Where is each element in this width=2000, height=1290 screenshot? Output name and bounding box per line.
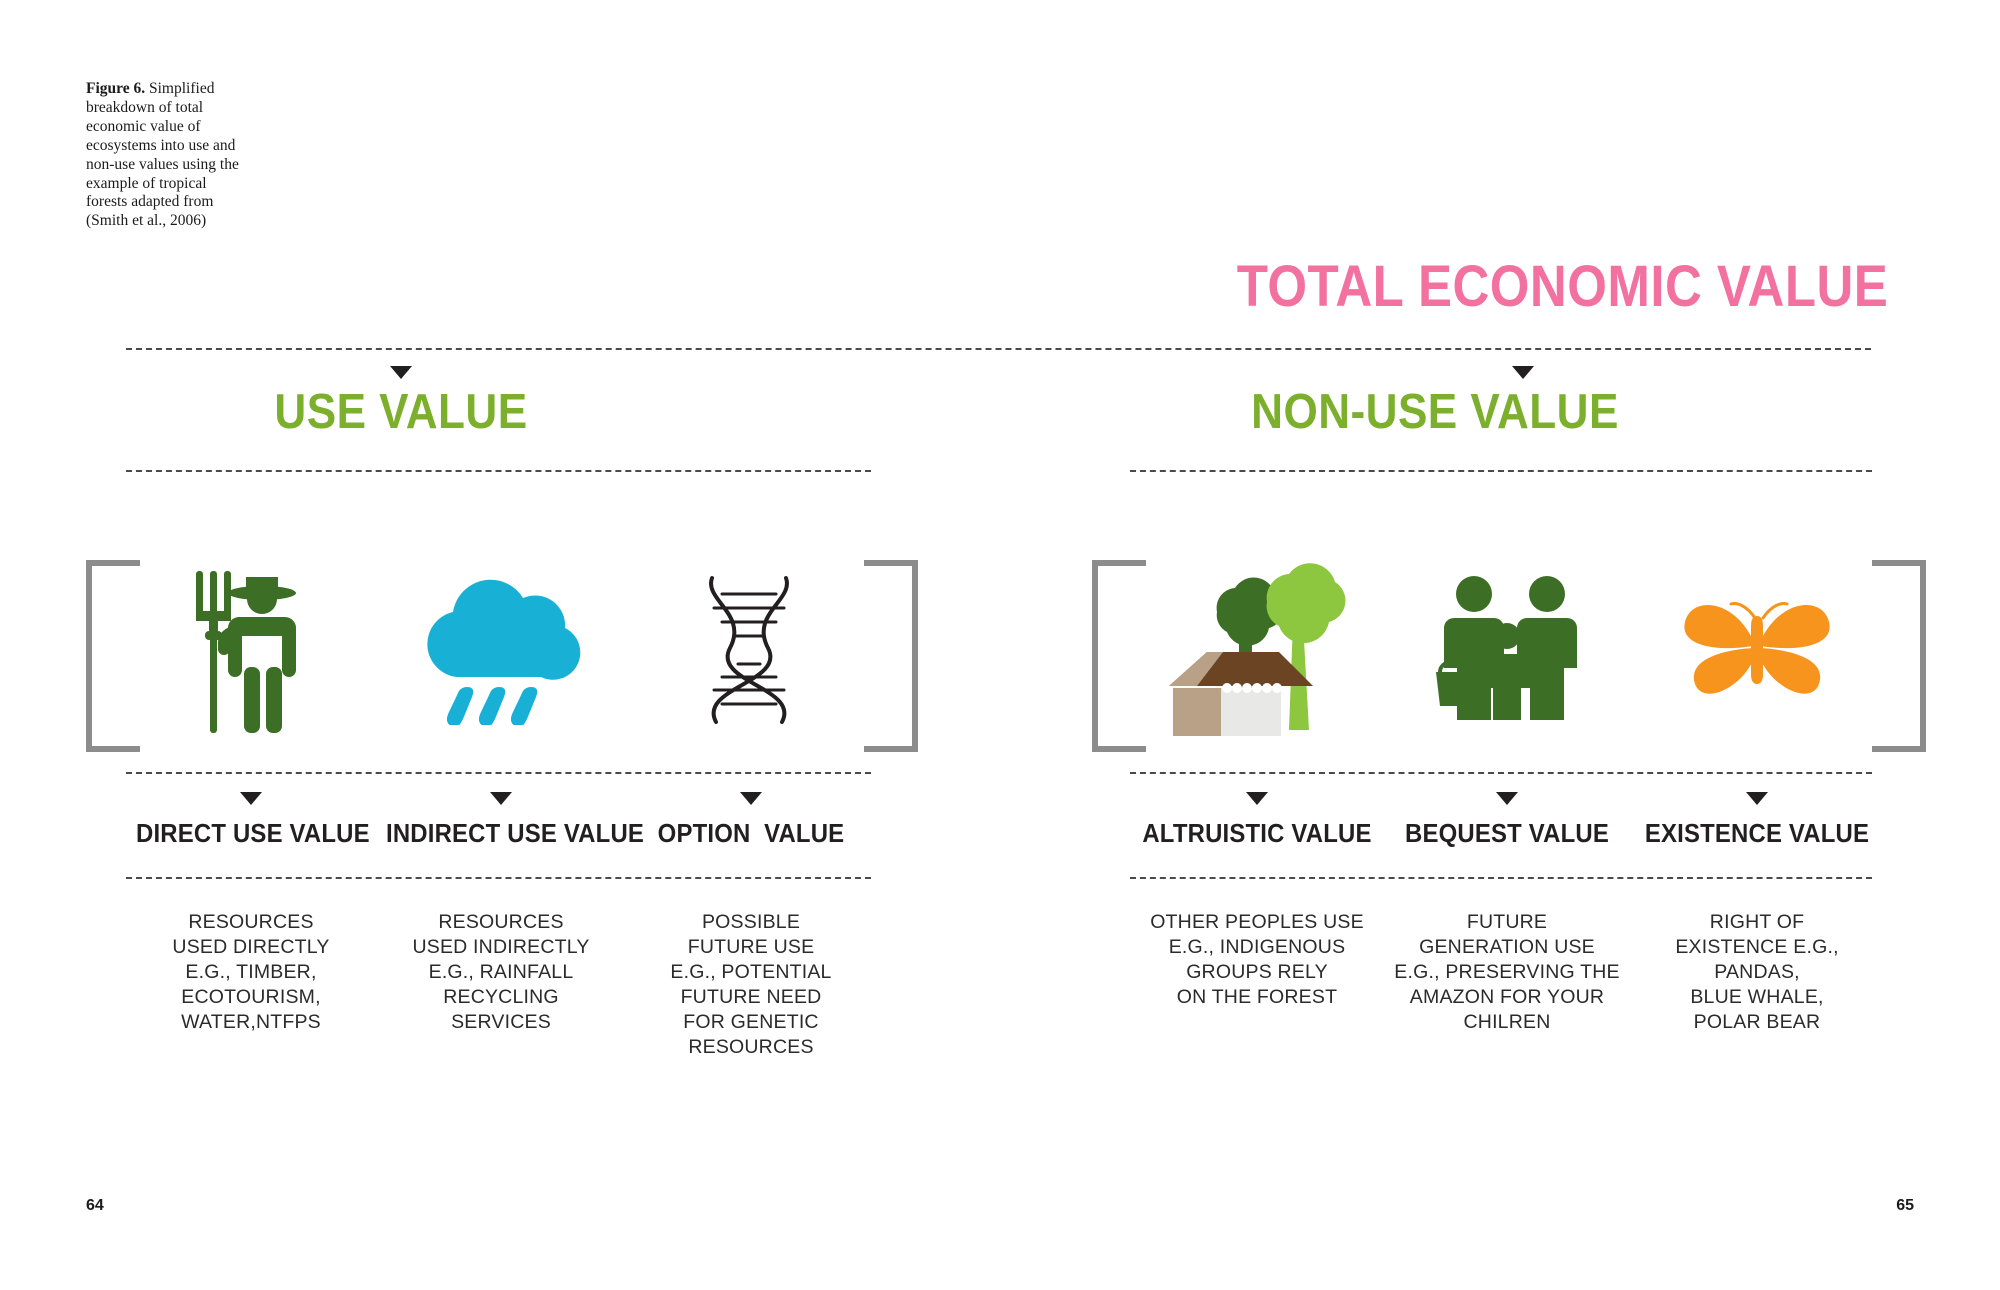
page-number-right: 65: [1896, 1197, 1914, 1215]
house-and-trees-icon: [1167, 560, 1347, 740]
icon-cell-altruistic: [1132, 555, 1382, 745]
rain-cloud-icon: [419, 575, 584, 725]
pointer-direct-use-value: [240, 792, 262, 805]
branch-heading-non-use: NON-USE VALUE: [1165, 388, 1705, 437]
column-description-existence-value: RIGHT OF EXISTENCE E.G., PANDAS, BLUE WH…: [1632, 910, 1882, 1035]
column-label-existence-value: EXISTENCE VALUE: [1642, 818, 1872, 849]
column-label-bequest-value: BEQUEST VALUE: [1392, 818, 1622, 849]
column-description-direct-use-value: RESOURCES USED DIRECTLY E.G., TIMBER, EC…: [126, 910, 376, 1035]
connector-non-use-columns: [1130, 470, 1872, 472]
column-label-option-value: OPTION VALUE: [636, 818, 866, 849]
butterfly-icon: [1677, 590, 1837, 710]
column-label-altruistic-value: ALTRUISTIC VALUE: [1142, 818, 1372, 849]
pointer-non-use-value: [1512, 366, 1534, 379]
pointer-indirect-use-value: [490, 792, 512, 805]
connector-non-use-labels-top: [1130, 772, 1872, 774]
pointer-bequest-value: [1496, 792, 1518, 805]
family-icon: [1432, 570, 1582, 730]
connector-top: [126, 348, 1871, 350]
pointer-altruistic-value: [1246, 792, 1268, 805]
branch-heading-use: USE VALUE: [235, 388, 568, 437]
page-title: TOTAL ECONOMIC VALUE: [1237, 258, 1776, 316]
column-label-indirect-use-value: INDIRECT USE VALUE: [386, 818, 616, 849]
page-number-left: 64: [86, 1197, 104, 1215]
column-label-direct-use-value: DIRECT USE VALUE: [136, 818, 366, 849]
pointer-option-value: [740, 792, 762, 805]
figure-caption: Figure 6. Simplified breakdown of total …: [86, 80, 246, 231]
column-description-altruistic-value: OTHER PEOPLES USE E.G., INDIGENOUS GROUP…: [1122, 910, 1392, 1010]
connector-use-labels-bottom: [126, 877, 871, 879]
figure-label: Figure 6.: [86, 80, 145, 97]
column-description-option-value: POSSIBLE FUTURE USE E.G., POTENTIAL FUTU…: [626, 910, 876, 1060]
pointer-existence-value: [1746, 792, 1768, 805]
connector-use-columns: [126, 470, 871, 472]
icon-cell-option-value: [626, 555, 876, 745]
connector-non-use-labels-bottom: [1130, 877, 1872, 879]
farmer-pitchfork-icon: [176, 563, 326, 738]
column-description-bequest-value: FUTURE GENERATION USE E.G., PRESERVING T…: [1372, 910, 1642, 1035]
dna-helix-icon: [686, 570, 816, 730]
connector-use-labels-top: [126, 772, 871, 774]
column-description-indirect-use-value: RESOURCES USED INDIRECTLY E.G., RAINFALL…: [376, 910, 626, 1035]
icon-cell-bequest: [1382, 555, 1632, 745]
icon-cell-indirect-use: [376, 555, 626, 745]
figure-caption-text: Simplified breakdown of total economic v…: [86, 80, 239, 229]
icon-cell-direct-use: [126, 555, 376, 745]
icon-cell-existence: [1632, 555, 1882, 745]
pointer-use-value: [390, 366, 412, 379]
